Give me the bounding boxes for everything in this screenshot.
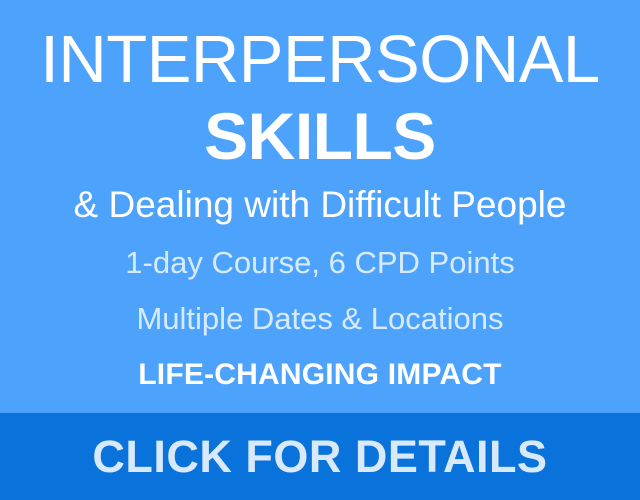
ad-detail-course: 1-day Course, 6 CPD Points [0,247,640,278]
advertisement-banner[interactable]: INTERPERSONAL SKILLS & Dealing with Diff… [0,0,640,500]
ad-detail-dates: Multiple Dates & Locations [0,303,640,334]
ad-content-area: INTERPERSONAL SKILLS & Dealing with Diff… [0,0,640,413]
call-to-action-bar[interactable]: CLICK FOR DETAILS [0,413,640,500]
headline-primary: INTERPERSONAL [0,26,640,93]
headline-secondary: SKILLS [0,103,640,169]
ad-tagline: LIFE-CHANGING IMPACT [0,360,640,390]
ad-subtitle: & Dealing with Difficult People [0,186,640,223]
cta-label: CLICK FOR DETAILS [92,434,547,479]
